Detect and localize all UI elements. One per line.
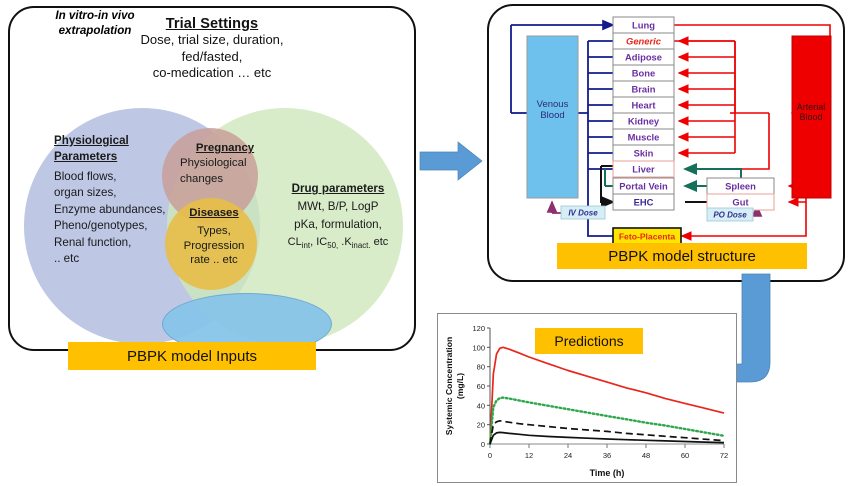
dose-label-iv-dose: IV Dose xyxy=(561,206,605,219)
pregnancy-item-2: changes xyxy=(180,172,270,187)
arterial-blood-label-line2: Blood xyxy=(799,112,822,122)
dose-label-text: PO Dose xyxy=(713,211,747,220)
y-tick-label: 20 xyxy=(477,421,485,430)
physiological-header-line2: Parameters xyxy=(54,149,184,165)
organ-label: Muscle xyxy=(628,131,660,142)
y-tick-label: 80 xyxy=(477,363,485,372)
organ-label: Generic xyxy=(626,35,662,46)
venous-blood-label-line1: Venous xyxy=(537,99,569,110)
organ-label: Spleen xyxy=(725,180,756,191)
physiological-item-5: Renal function, xyxy=(54,235,184,251)
physiological-parameters-text: Physiological Parameters Blood flows, or… xyxy=(54,133,184,268)
y-tick-label: 60 xyxy=(477,382,485,391)
organ-label: Kidney xyxy=(628,115,660,126)
physiological-item-6: .. etc xyxy=(54,251,184,267)
organ-box-liver[interactable]: Liver xyxy=(613,161,674,177)
organ-box-muscle[interactable]: Muscle xyxy=(613,129,674,145)
organ-box-spleen[interactable]: Spleen xyxy=(707,178,774,194)
organ-box-bone[interactable]: Bone xyxy=(613,65,674,81)
organ-box-kidney[interactable]: Kidney xyxy=(613,113,674,129)
physiological-item-3: Enzyme abundances, xyxy=(54,202,184,218)
x-tick-label: 60 xyxy=(681,451,689,460)
trial-settings-block: Trial Settings Dose, trial size, duratio… xyxy=(10,16,414,82)
organ-box-portal-vein[interactable]: Portal Vein xyxy=(613,178,674,194)
organ-box-brain[interactable]: Brain xyxy=(613,81,674,97)
x-tick-label: 72 xyxy=(720,451,728,460)
organ-label: Adipose xyxy=(625,51,662,62)
organ-label: EHC xyxy=(634,196,654,207)
organ-box-ehc[interactable]: EHC xyxy=(613,194,674,210)
x-axis-title: Time (h) xyxy=(590,468,625,478)
organ-box-lung[interactable]: Lung xyxy=(613,17,674,33)
drug-item-3: CLint, IC50, .Kinact. etc xyxy=(267,234,409,252)
y-axis-title-line2: (mg/L) xyxy=(455,373,465,399)
dose-label-text: IV Dose xyxy=(568,209,598,218)
organ-label: Feto-Placenta xyxy=(619,231,676,241)
chart-series-series-black-dashed xyxy=(490,421,724,444)
physiological-item-2: organ sizes, xyxy=(54,185,184,201)
organ-label: Brain xyxy=(632,83,656,94)
x-tick-label: 0 xyxy=(488,451,492,460)
pregnancy-item-1: Physiological xyxy=(180,156,270,171)
organ-label: Lung xyxy=(632,19,655,30)
pregnancy-header: Pregnancy xyxy=(180,141,270,156)
drug-item-1: MWt, B/P, LogP xyxy=(267,198,409,216)
pregnancy-text: Pregnancy Physiological changes xyxy=(180,141,270,187)
drug-header: Drug parameters xyxy=(267,180,409,198)
trial-settings-title: Trial Settings xyxy=(10,16,414,32)
x-tick-label: 12 xyxy=(525,451,533,460)
diseases-item-2: Progression xyxy=(174,239,254,254)
organ-label: Liver xyxy=(632,163,655,174)
y-axis-title-line1: Systemic Concentration xyxy=(444,337,454,435)
arterial-blood-label-line1: Arterial xyxy=(797,102,826,112)
trial-settings-line-1: Dose, trial size, duration, xyxy=(10,32,414,49)
diseases-header: Diseases xyxy=(174,206,254,221)
pbpk-structure-panel: Venous Blood Arterial Blood LungGenericA… xyxy=(487,4,845,282)
diseases-text: Diseases Types, Progression rate .. etc xyxy=(174,206,254,268)
physiological-header-line1: Physiological xyxy=(54,133,184,149)
organ-label: Skin xyxy=(634,147,654,158)
organ-box-skin[interactable]: Skin xyxy=(613,145,674,161)
organ-box-feto-placenta[interactable]: Feto-Placenta xyxy=(613,228,681,244)
physiological-item-1: Blood flows, xyxy=(54,169,184,185)
organ-label: Bone xyxy=(632,67,655,78)
drug-item-2: pKa, formulation, xyxy=(267,216,409,234)
pbpk-inputs-panel: Trial Settings Dose, trial size, duratio… xyxy=(8,6,416,351)
arrow-inputs-to-structure-icon xyxy=(418,140,484,182)
organ-box-generic[interactable]: Generic xyxy=(613,33,674,49)
trial-settings-line-3: co-medication … etc xyxy=(10,65,414,82)
predictions-badge: Predictions xyxy=(535,328,643,354)
organ-box-heart[interactable]: Heart xyxy=(613,97,674,113)
organ-label: Portal Vein xyxy=(619,180,668,191)
y-tick-label: 0 xyxy=(481,440,485,449)
trial-settings-line-2: fed/fasted, xyxy=(10,49,414,66)
pbpk-structure-caption: PBPK model structure xyxy=(557,243,807,269)
diseases-item-3: rate .. etc xyxy=(174,253,254,268)
x-tick-label: 24 xyxy=(564,451,572,460)
x-tick-label: 36 xyxy=(603,451,611,460)
organ-label: Gut xyxy=(732,196,748,207)
pbpk-inputs-caption: PBPK model Inputs xyxy=(68,342,316,370)
y-tick-label: 40 xyxy=(477,401,485,410)
physiological-item-4: Pheno/genotypes, xyxy=(54,218,184,234)
chart-series-series-black-solid xyxy=(490,432,724,444)
organ-box-adipose[interactable]: Adipose xyxy=(613,49,674,65)
x-tick-label: 48 xyxy=(642,451,650,460)
dose-label-po-dose: PO Dose xyxy=(707,208,753,221)
y-tick-label: 120 xyxy=(472,324,485,333)
diseases-item-1: Types, xyxy=(174,224,254,239)
organ-label: Heart xyxy=(632,99,656,110)
venous-blood-label-line2: Blood xyxy=(540,110,564,121)
y-tick-label: 100 xyxy=(472,343,485,352)
drug-parameters-text: Drug parameters MWt, B/P, LogP pKa, form… xyxy=(267,180,409,252)
